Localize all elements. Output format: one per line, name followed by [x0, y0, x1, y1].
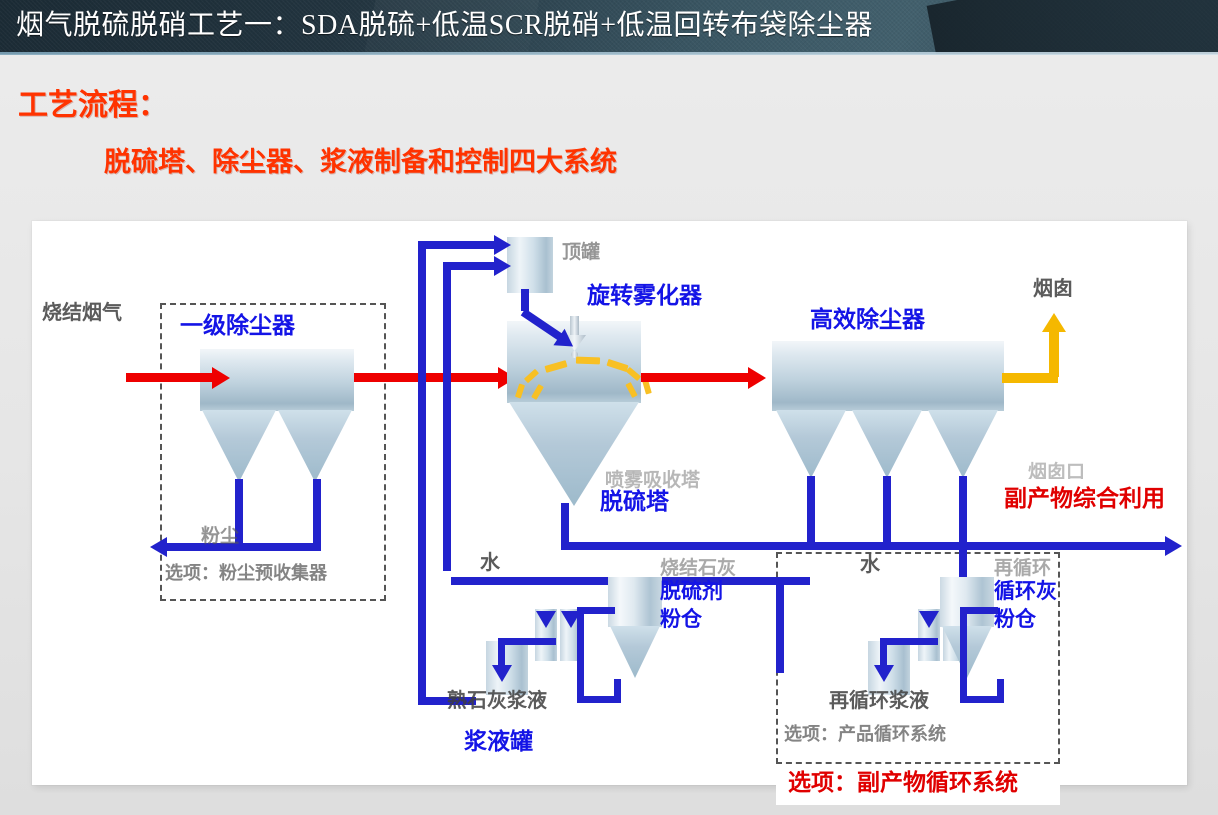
inlet-gas-pipe [126, 373, 216, 382]
label-inlet-gas: 烧结烟气 [42, 303, 122, 325]
desulfurizer-silo-hopper [610, 626, 660, 678]
label-water-right: 水 [860, 555, 880, 577]
label-water-left: 水 [480, 553, 500, 575]
high-efficiency-collector-body [772, 341, 1004, 411]
recycle-slurry-arrow-icon [874, 665, 894, 682]
gas-pipe-to-tower [354, 373, 502, 382]
option-box-dust-pre-collector [160, 303, 386, 601]
label-option-byproduct-recycle: 选项：副产物循环系统 [788, 770, 1018, 795]
dust-drain-pipe-2 [313, 479, 321, 551]
slide-title: 烟气脱硫脱硝工艺一：SDA脱硫+低温SCR脱硝+低温回转布袋除尘器 [16, 3, 873, 43]
label-recycle-slurry: 再循环浆液 [829, 691, 929, 713]
label-byproduct-utilization: 副产物综合利用 [1004, 486, 1165, 511]
label-recycle-faint: 再循环 [994, 559, 1051, 580]
recycle-slurry-pipe-v [880, 638, 887, 668]
spray-dash-2 [576, 357, 600, 365]
label-rotary-atomizer: 旋转雾化器 [587, 283, 702, 308]
silo-discharge-pipe-riser [614, 679, 621, 703]
gas-to-high-efficiency-arrow-icon [748, 367, 766, 389]
label-top-tank: 顶罐 [562, 243, 600, 264]
top-tank-feed-arrow-outer-icon [494, 235, 511, 255]
process-flow-diagram: 一级除尘器 烧结烟气 粉尘 选项：粉尘预收集器 顶罐 旋转雾化器 喷雾吸收塔 脱… [32, 221, 1187, 785]
top-tank-feed-arrow-inner-icon [494, 256, 511, 276]
water-supply-pipe-right-h [776, 577, 810, 585]
ash-drain-pipe-2 [883, 476, 891, 549]
dust-outlet-arrow-icon [150, 537, 167, 557]
label-desulfurization-tower: 脱硫塔 [600, 489, 669, 514]
slurry-transfer-arrow-icon [492, 665, 512, 682]
label-slaked-lime-slurry: 熟石灰浆液 [447, 691, 547, 713]
gas-pipe-to-high-efficiency [641, 373, 751, 382]
titlebar-underline [0, 52, 1218, 55]
slurry-transfer-pipe-h [498, 638, 556, 645]
mixing-feed-arrow-1-icon [536, 611, 556, 628]
recycle-ash-silo-body [940, 577, 994, 627]
label-desulfurizer-silo-line1: 脱硫剂 [660, 581, 723, 604]
top-tank-body [507, 237, 553, 293]
titlebar-dark-shard [927, 0, 1218, 54]
inlet-gas-arrow-icon [212, 367, 230, 389]
label-chimney: 烟囱 [1033, 279, 1073, 301]
slurry-riser-top-outer [418, 241, 504, 249]
page-title: 工艺流程： [18, 80, 168, 124]
desulfurizer-silo-body [608, 577, 662, 627]
label-dust: 粉尘 [201, 527, 239, 548]
ash-drain-pipe-1 [807, 476, 815, 549]
main-collection-header-pipe [561, 542, 1171, 550]
recycle-mixing-arrow-1-icon [919, 611, 939, 628]
chimney-arrow-icon [1042, 313, 1066, 332]
slurry-transfer-pipe-v [498, 638, 505, 668]
label-high-efficiency-collector: 高效除尘器 [810, 307, 925, 332]
byproduct-outlet-arrow-icon [1165, 536, 1182, 556]
high-efficiency-hopper-2 [852, 410, 922, 478]
page-subtitle: 脱硫塔、除尘器、浆液制备和控制四大系统 [104, 140, 617, 179]
label-desulfurizer-silo-line2: 粉仓 [660, 609, 702, 632]
label-slaked-lime-faint: 烧结石灰 [660, 559, 736, 580]
label-recycle-ash-silo-line1: 循环灰 [994, 581, 1057, 604]
recycle-silo-discharge-riser [997, 679, 1004, 703]
clean-gas-pipe-vertical [1049, 331, 1059, 377]
tower-bottom-drop-pipe [561, 503, 569, 543]
slurry-riser-pipe-inner [443, 262, 451, 571]
label-option-dust-pre-collector: 选项：粉尘预收集器 [165, 564, 327, 583]
label-primary-dust-collector: 一级除尘器 [180, 313, 295, 338]
label-option-product-recycle: 选项：产品循环系统 [784, 725, 946, 744]
silo-discharge-pipe-v [577, 607, 584, 703]
label-slurry-tank: 浆液罐 [464, 729, 533, 754]
recycle-slurry-pipe-h [880, 638, 938, 645]
ash-drain-pipe-3 [959, 476, 967, 549]
slide-title-bar: 烟气脱硫脱硝工艺一：SDA脱硫+低温SCR脱硝+低温回转布袋除尘器 [0, 0, 1218, 54]
label-recycle-ash-silo-line2: 粉仓 [994, 609, 1036, 632]
water-supply-pipe-right [776, 577, 784, 673]
high-efficiency-hopper-1 [776, 410, 846, 478]
dust-outlet-pipe [167, 543, 321, 551]
recycle-silo-discharge-v [960, 607, 967, 703]
slurry-riser-pipe-outer [418, 241, 426, 705]
high-efficiency-hopper-3 [928, 410, 998, 478]
